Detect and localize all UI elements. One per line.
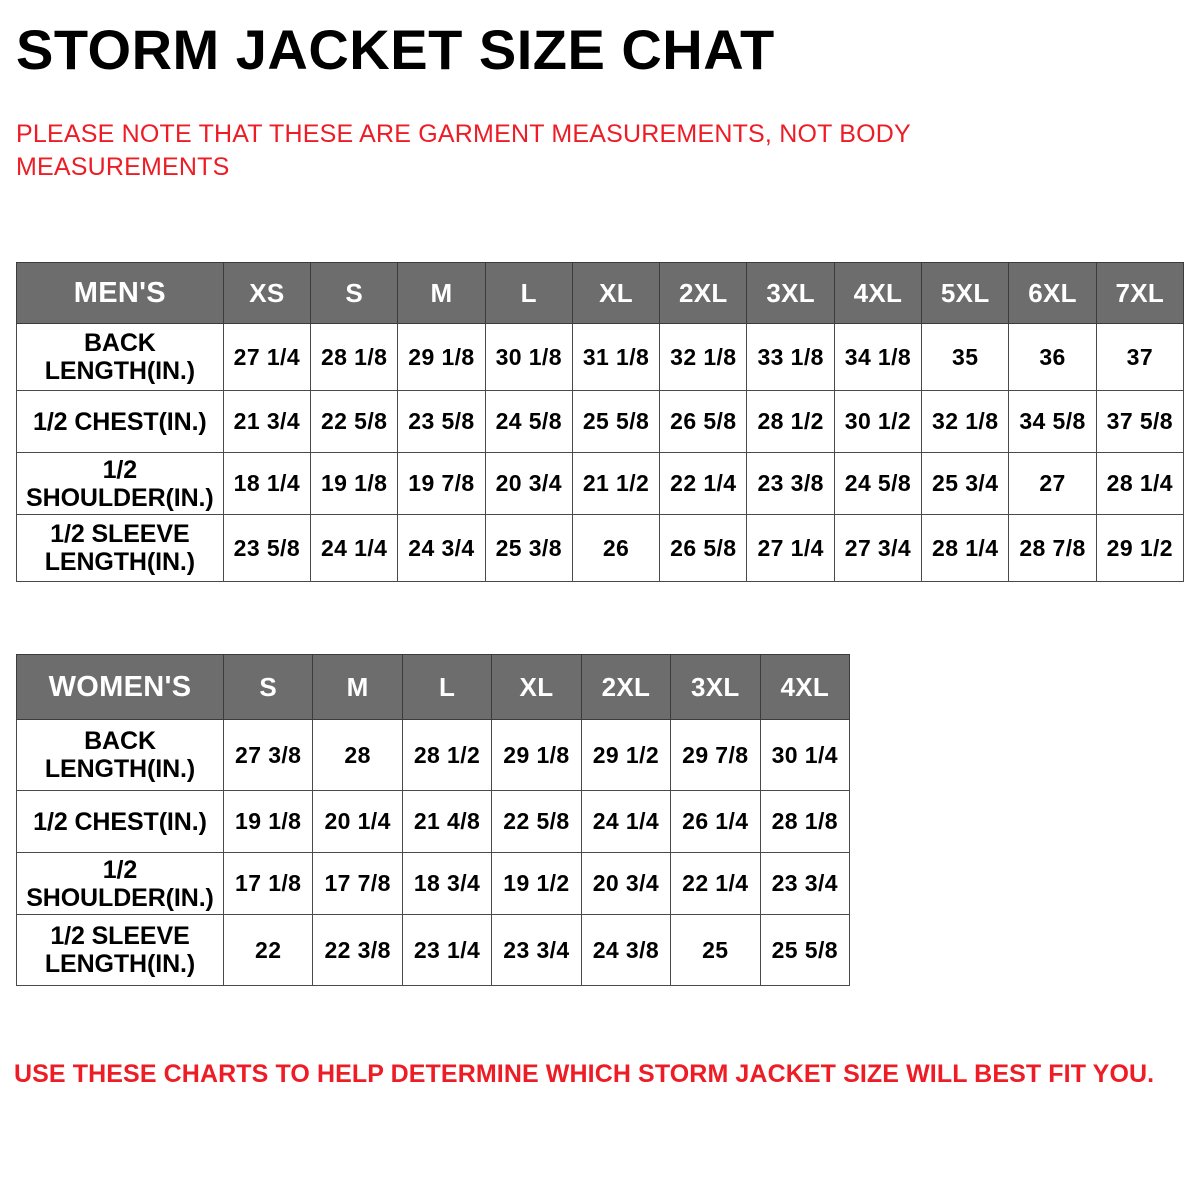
- measurement-value: 28 7/8: [1009, 515, 1096, 582]
- measurement-value: 23 5/8: [398, 391, 485, 453]
- measurement-value: 21 1/2: [572, 453, 659, 515]
- measurement-value: 29 7/8: [671, 720, 760, 791]
- measurement-value: 23 1/4: [402, 915, 491, 986]
- measurement-value: 32 1/8: [660, 324, 747, 391]
- measurement-value: 34 5/8: [1009, 391, 1096, 453]
- measurement-value: 22 1/4: [671, 853, 760, 915]
- column-header-3xl: 3XL: [747, 263, 834, 324]
- measurement-value: 25 5/8: [572, 391, 659, 453]
- measurement-value: 24 5/8: [834, 453, 921, 515]
- column-header-xs: XS: [223, 263, 310, 324]
- measurement-value: 23 5/8: [223, 515, 310, 582]
- measurement-value: 25: [671, 915, 760, 986]
- measurement-label: 1/2 CHEST(IN.): [17, 791, 224, 853]
- mens-size-table: MEN'SXSSMLXL2XL3XL4XL5XL6XL7XL BACK LENG…: [16, 262, 1184, 582]
- measurement-value: 19 7/8: [398, 453, 485, 515]
- measurement-value: 17 7/8: [313, 853, 402, 915]
- measurement-value: 28: [313, 720, 402, 791]
- measurement-value: 18 3/4: [402, 853, 491, 915]
- measurement-value: 24 1/4: [311, 515, 398, 582]
- measurement-value: 22: [223, 915, 312, 986]
- measurement-value: 37: [1096, 324, 1183, 391]
- measurement-label: BACK LENGTH(IN.): [17, 324, 224, 391]
- mens-table-body: BACK LENGTH(IN.)27 1/428 1/829 1/830 1/8…: [17, 324, 1184, 582]
- table-row: 1/2 SHOULDER(IN.)17 1/817 7/818 3/419 1/…: [17, 853, 850, 915]
- measurement-value: 22 1/4: [660, 453, 747, 515]
- column-header-l: L: [402, 655, 491, 720]
- measurement-value: 28 1/2: [402, 720, 491, 791]
- measurement-label: 1/2 SLEEVE LENGTH(IN.): [17, 515, 224, 582]
- measurement-value: 24 5/8: [485, 391, 572, 453]
- column-header-m: M: [398, 263, 485, 324]
- column-header-4xl: 4XL: [760, 655, 849, 720]
- column-header-2xl: 2XL: [581, 655, 670, 720]
- measurement-label: BACK LENGTH(IN.): [17, 720, 224, 791]
- measurement-value: 26 1/4: [671, 791, 760, 853]
- measurement-value: 37 5/8: [1096, 391, 1183, 453]
- column-header-7xl: 7XL: [1096, 263, 1183, 324]
- column-header-6xl: 6XL: [1009, 263, 1096, 324]
- column-header-3xl: 3XL: [671, 655, 760, 720]
- measurement-value: 21 3/4: [223, 391, 310, 453]
- measurement-value: 24 3/4: [398, 515, 485, 582]
- measurement-value: 21 4/8: [402, 791, 491, 853]
- measurement-label: 1/2 SHOULDER(IN.): [17, 853, 224, 915]
- measurement-value: 18 1/4: [223, 453, 310, 515]
- womens-corner-label: WOMEN'S: [17, 655, 224, 720]
- table-header-row: WOMEN'SSMLXL2XL3XL4XL: [17, 655, 850, 720]
- column-header-2xl: 2XL: [660, 263, 747, 324]
- page-title: STORM JACKET SIZE CHAT: [16, 22, 775, 78]
- table-row: BACK LENGTH(IN.)27 3/82828 1/229 1/829 1…: [17, 720, 850, 791]
- column-header-s: S: [223, 655, 312, 720]
- garment-measurement-note: PLEASE NOTE THAT THESE ARE GARMENT MEASU…: [16, 118, 976, 184]
- measurement-value: 23 3/4: [492, 915, 581, 986]
- measurement-value: 30 1/4: [760, 720, 849, 791]
- measurement-value: 33 1/8: [747, 324, 834, 391]
- measurement-value: 27 1/4: [223, 324, 310, 391]
- size-chart-page: STORM JACKET SIZE CHAT PLEASE NOTE THAT …: [0, 0, 1200, 1200]
- measurement-value: 25 5/8: [760, 915, 849, 986]
- table-row: BACK LENGTH(IN.)27 1/428 1/829 1/830 1/8…: [17, 324, 1184, 391]
- column-header-4xl: 4XL: [834, 263, 921, 324]
- table-row: 1/2 CHEST(IN.)21 3/422 5/823 5/824 5/825…: [17, 391, 1184, 453]
- measurement-value: 28 1/4: [922, 515, 1009, 582]
- column-header-xl: XL: [492, 655, 581, 720]
- measurement-value: 22 5/8: [492, 791, 581, 853]
- measurement-value: 26: [572, 515, 659, 582]
- measurement-value: 24 1/4: [581, 791, 670, 853]
- measurement-value: 19 1/8: [223, 791, 312, 853]
- womens-table-header: WOMEN'SSMLXL2XL3XL4XL: [17, 655, 850, 720]
- measurement-value: 32 1/8: [922, 391, 1009, 453]
- measurement-value: 27 1/4: [747, 515, 834, 582]
- measurement-value: 19 1/8: [311, 453, 398, 515]
- measurement-value: 30 1/8: [485, 324, 572, 391]
- measurement-value: 23 3/4: [760, 853, 849, 915]
- table-row: 1/2 SLEEVE LENGTH(IN.)23 5/824 1/424 3/4…: [17, 515, 1184, 582]
- mens-corner-label: MEN'S: [17, 263, 224, 324]
- measurement-value: 20 3/4: [485, 453, 572, 515]
- womens-table-body: BACK LENGTH(IN.)27 3/82828 1/229 1/829 1…: [17, 720, 850, 986]
- table-row: 1/2 CHEST(IN.)19 1/820 1/421 4/822 5/824…: [17, 791, 850, 853]
- measurement-value: 20 3/4: [581, 853, 670, 915]
- column-header-m: M: [313, 655, 402, 720]
- measurement-value: 26 5/8: [660, 515, 747, 582]
- measurement-label: 1/2 SLEEVE LENGTH(IN.): [17, 915, 224, 986]
- measurement-value: 28 1/8: [311, 324, 398, 391]
- measurement-label: 1/2 SHOULDER(IN.): [17, 453, 224, 515]
- column-header-s: S: [311, 263, 398, 324]
- measurement-value: 31 1/8: [572, 324, 659, 391]
- measurement-value: 29 1/8: [398, 324, 485, 391]
- fit-guidance-note: USE THESE CHARTS TO HELP DETERMINE WHICH…: [14, 1058, 1174, 1091]
- measurement-value: 24 3/8: [581, 915, 670, 986]
- measurement-value: 17 1/8: [223, 853, 312, 915]
- measurement-value: 23 3/8: [747, 453, 834, 515]
- measurement-value: 29 1/2: [581, 720, 670, 791]
- column-header-xl: XL: [572, 263, 659, 324]
- measurement-value: 19 1/2: [492, 853, 581, 915]
- measurement-value: 22 3/8: [313, 915, 402, 986]
- table-row: 1/2 SLEEVE LENGTH(IN.)2222 3/823 1/423 3…: [17, 915, 850, 986]
- column-header-5xl: 5XL: [922, 263, 1009, 324]
- measurement-value: 25 3/8: [485, 515, 572, 582]
- measurement-value: 22 5/8: [311, 391, 398, 453]
- column-header-l: L: [485, 263, 572, 324]
- measurement-value: 28 1/4: [1096, 453, 1183, 515]
- measurement-label: 1/2 CHEST(IN.): [17, 391, 224, 453]
- measurement-value: 25 3/4: [922, 453, 1009, 515]
- measurement-value: 20 1/4: [313, 791, 402, 853]
- measurement-value: 29 1/2: [1096, 515, 1183, 582]
- measurement-value: 27 3/8: [223, 720, 312, 791]
- measurement-value: 30 1/2: [834, 391, 921, 453]
- measurement-value: 35: [922, 324, 1009, 391]
- table-row: 1/2 SHOULDER(IN.)18 1/419 1/819 7/820 3/…: [17, 453, 1184, 515]
- measurement-value: 34 1/8: [834, 324, 921, 391]
- measurement-value: 29 1/8: [492, 720, 581, 791]
- measurement-value: 27: [1009, 453, 1096, 515]
- measurement-value: 27 3/4: [834, 515, 921, 582]
- measurement-value: 28 1/8: [760, 791, 849, 853]
- measurement-value: 36: [1009, 324, 1096, 391]
- measurement-value: 28 1/2: [747, 391, 834, 453]
- womens-size-table: WOMEN'SSMLXL2XL3XL4XL BACK LENGTH(IN.)27…: [16, 654, 850, 986]
- mens-table-header: MEN'SXSSMLXL2XL3XL4XL5XL6XL7XL: [17, 263, 1184, 324]
- table-header-row: MEN'SXSSMLXL2XL3XL4XL5XL6XL7XL: [17, 263, 1184, 324]
- measurement-value: 26 5/8: [660, 391, 747, 453]
